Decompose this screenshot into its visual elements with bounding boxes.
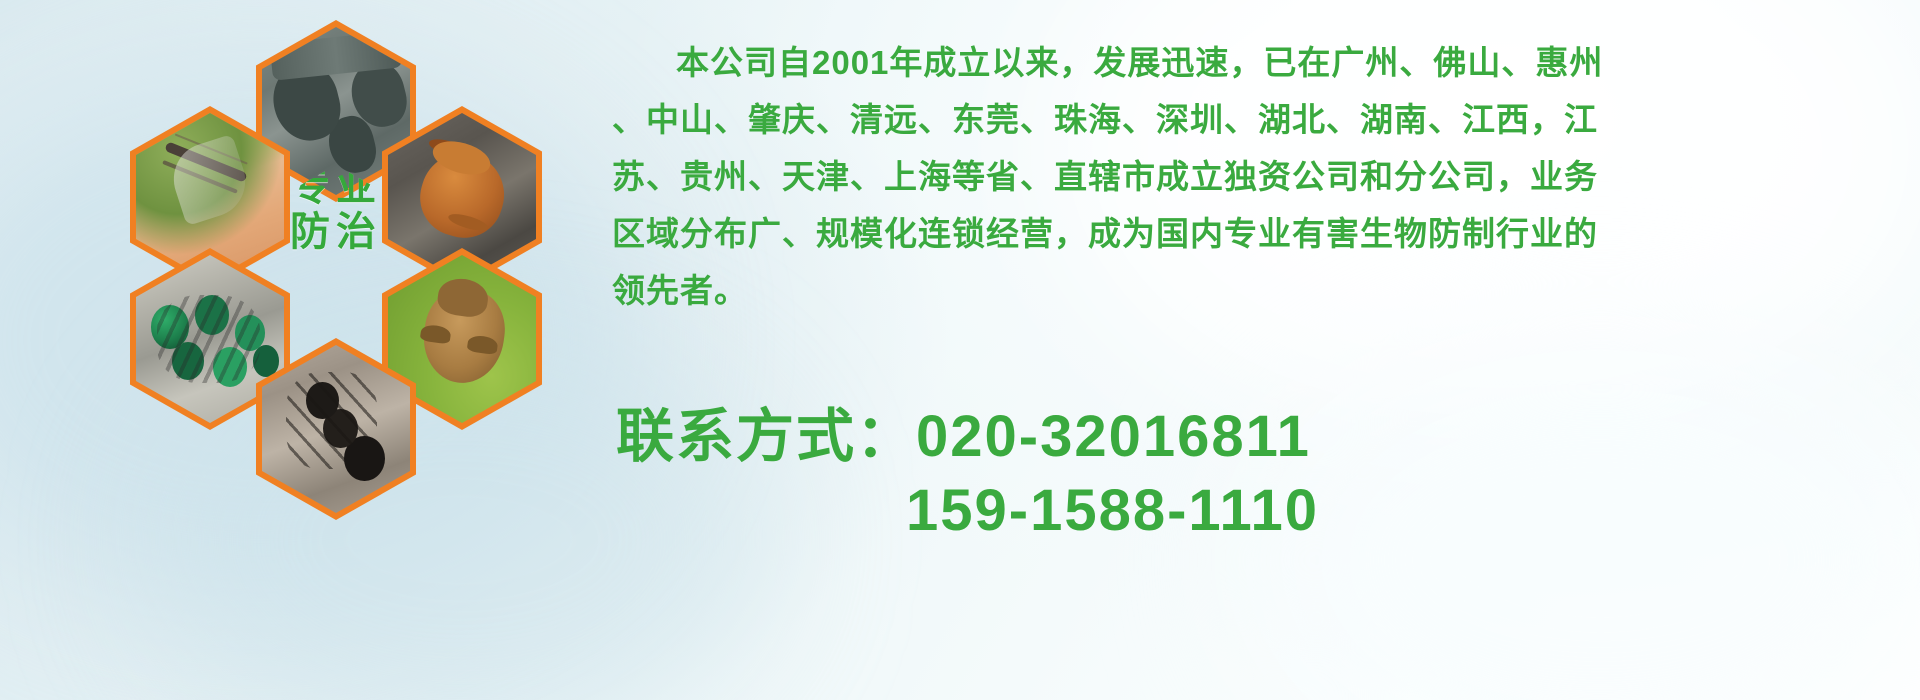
slogan-line-2: 防治 [262, 210, 410, 255]
contact-phone-primary[interactable]: 联系方式：020-32016811 [616, 400, 1916, 474]
ant-image [262, 345, 410, 513]
intro-line-2: 、中山、肇庆、清远、东莞、珠海、深圳、湖北、湖南、江西，江 [612, 91, 1908, 148]
contact-phone-secondary[interactable]: 159-1588-1110 [616, 474, 1916, 548]
promo-banner: 专业 防治 本公司自2001年成立以来，发展迅速，已在广州、佛山、惠州 、中山、… [0, 0, 1920, 700]
intro-line-3: 苏、贵州、天津、上海等省、直辖市成立独资公司和分公司，业务 [612, 148, 1908, 205]
intro-line-4: 区域分布广、规模化连锁经营，成为国内专业有害生物防制行业的 [612, 205, 1908, 262]
honeycomb-photo-grid: 专业 防治 [86, 8, 586, 568]
ant-photo [262, 345, 410, 513]
center-label-wrap: 专业 防治 [262, 165, 410, 333]
intro-line-5: 领先者。 [612, 262, 1908, 319]
intro-line-1: 本公司自2001年成立以来，发展迅速，已在广州、佛山、惠州 [612, 34, 1908, 91]
contact-block: 联系方式：020-32016811 159-1588-1110 [616, 400, 1916, 548]
company-intro-paragraph: 本公司自2001年成立以来，发展迅速，已在广州、佛山、惠州 、中山、肇庆、清远、… [612, 34, 1908, 319]
